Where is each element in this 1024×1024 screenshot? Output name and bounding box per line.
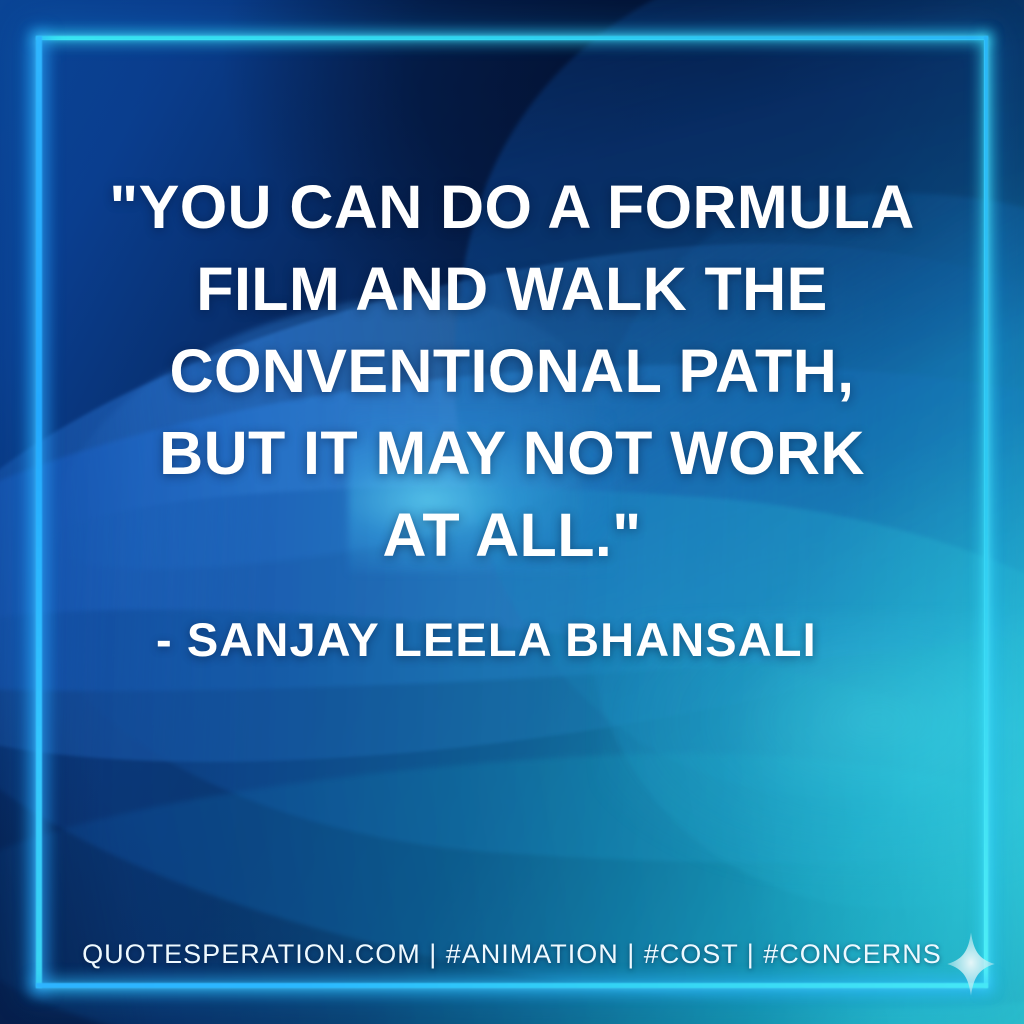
- neon-frame-top-edge: [36, 36, 988, 40]
- quote-line-5: AT ALL.": [70, 494, 954, 576]
- neon-frame-bottom-edge: [36, 983, 988, 988]
- four-pointed-star-icon: [938, 929, 1004, 999]
- footer-credit-line: QUOTESPERATION.COM | #ANIMATION | #COST …: [0, 939, 1024, 970]
- quote-line-3: CONVENTIONAL PATH,: [70, 330, 954, 412]
- quote-card: "YOU CAN DO A FORMULA FILM AND WALK THE …: [0, 0, 1024, 1024]
- quote-text-block: "YOU CAN DO A FORMULA FILM AND WALK THE …: [0, 166, 1024, 576]
- quote-attribution: - SANJAY LEELA BHANSALI: [156, 612, 817, 667]
- quote-line-4: BUT IT MAY NOT WORK: [70, 412, 954, 494]
- quote-line-1: "YOU CAN DO A FORMULA: [70, 166, 954, 248]
- quote-line-2: FILM AND WALK THE: [70, 248, 954, 330]
